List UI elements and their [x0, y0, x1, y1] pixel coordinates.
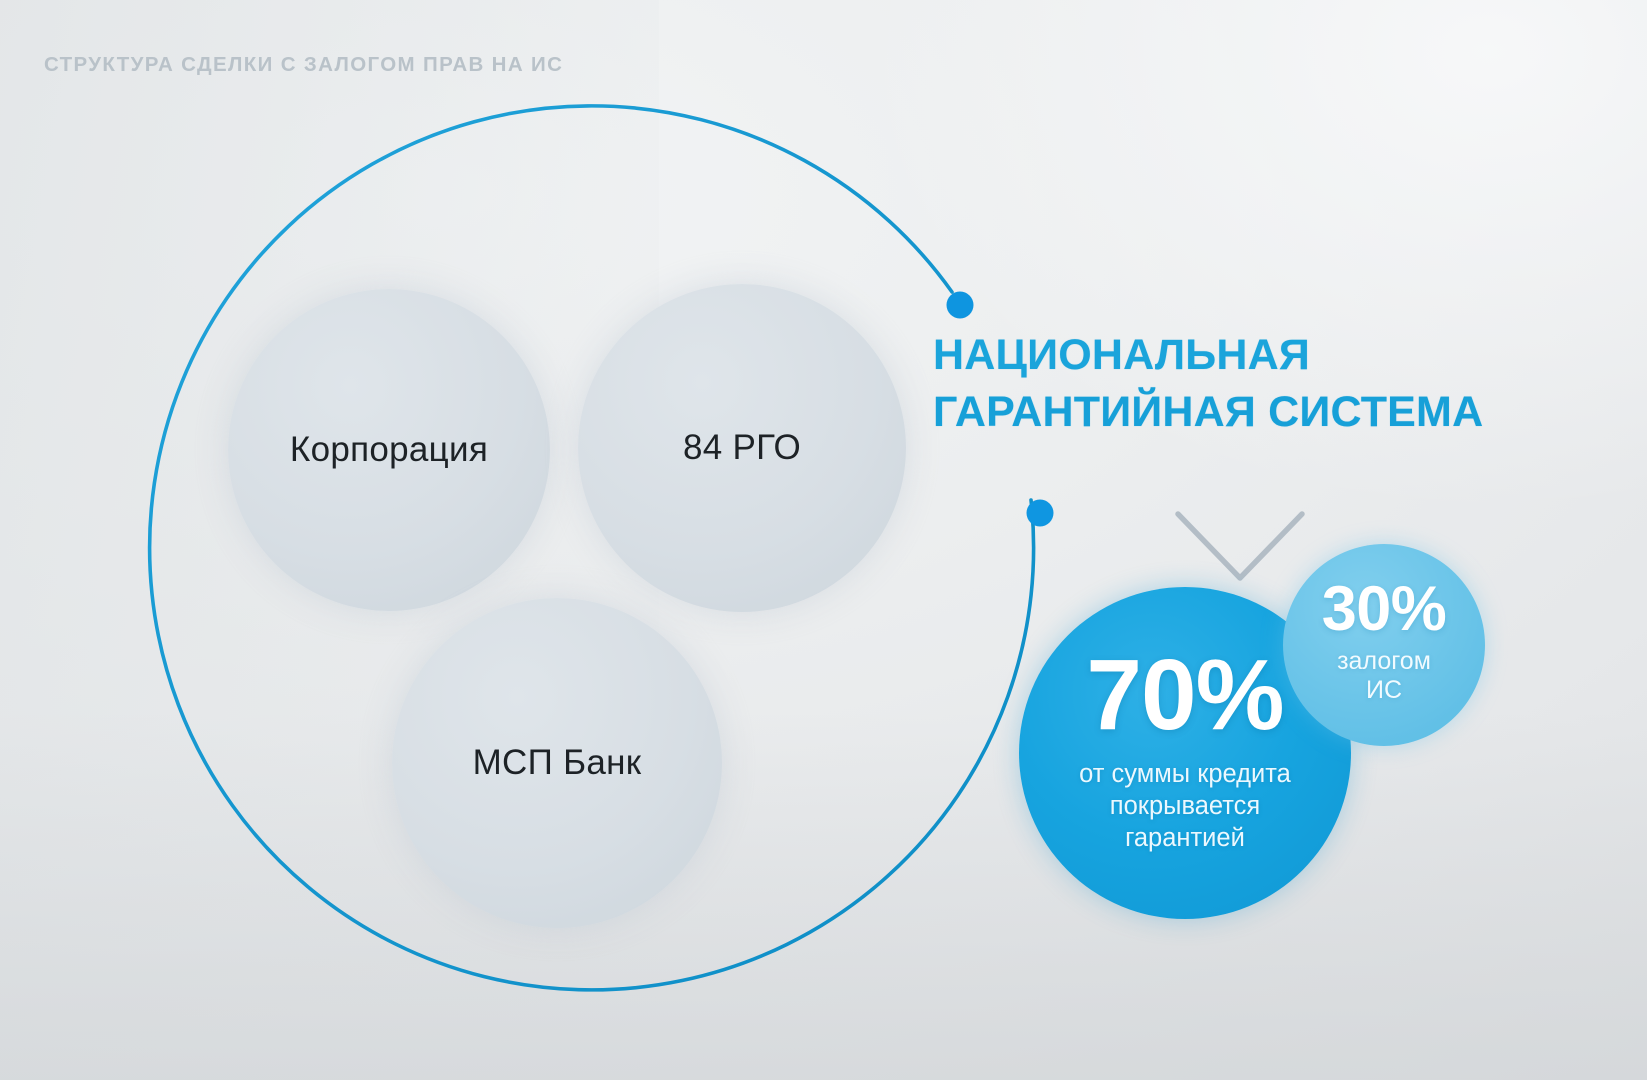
- ngs-heading-line-2: ГАРАНТИЙНАЯ СИСТЕМА: [933, 384, 1573, 441]
- orbit-member-label: Корпорация: [290, 430, 488, 470]
- page-title: СТРУКТУРА СДЕЛКИ С ЗАЛОГОМ ПРАВ НА ИС: [44, 53, 563, 77]
- orbit-member-korporatsiya[interactable]: Корпорация: [228, 289, 550, 611]
- guarantee-share-70-caption-line-1: от суммы кредита: [1079, 758, 1291, 790]
- guarantee-share-30-caption: залогом ИС: [1337, 647, 1431, 704]
- guarantee-share-70-caption: от суммы кредита покрывается гарантией: [1079, 758, 1291, 854]
- orbit-member-label: МСП Банк: [473, 743, 642, 783]
- guarantee-share-30-caption-line-2: ИС: [1337, 676, 1431, 705]
- orbit-member-label: 84 РГО: [683, 428, 801, 468]
- guarantee-share-30-caption-line-1: залогом: [1337, 647, 1431, 676]
- ngs-heading: НАЦИОНАЛЬНАЯ ГАРАНТИЙНАЯ СИСТЕМА: [933, 327, 1573, 441]
- slide-canvas: СТРУКТУРА СДЕЛКИ С ЗАЛОГОМ ПРАВ НА ИС Ко…: [0, 0, 1647, 1080]
- orbit-connector-dot-bottom: [1027, 500, 1054, 527]
- guarantee-share-30-value: 30%: [1322, 580, 1447, 640]
- orbit-member-rgo[interactable]: 84 РГО: [578, 284, 906, 612]
- background-wash-bottom: [0, 713, 1647, 1080]
- orbit-member-msp-bank[interactable]: МСП Банк: [392, 598, 722, 928]
- guarantee-share-70-caption-line-3: гарантией: [1079, 822, 1291, 854]
- chevron-down-icon: [1178, 514, 1302, 578]
- guarantee-share-30-bubble[interactable]: 30% залогом ИС: [1283, 544, 1485, 746]
- guarantee-share-70-value: 70%: [1086, 648, 1283, 742]
- background-wash-top-right: [856, 0, 1647, 518]
- guarantee-share-70-caption-line-2: покрывается: [1079, 790, 1291, 822]
- ngs-heading-line-1: НАЦИОНАЛЬНАЯ: [933, 327, 1573, 384]
- orbit-connector-dot-top: [947, 292, 974, 319]
